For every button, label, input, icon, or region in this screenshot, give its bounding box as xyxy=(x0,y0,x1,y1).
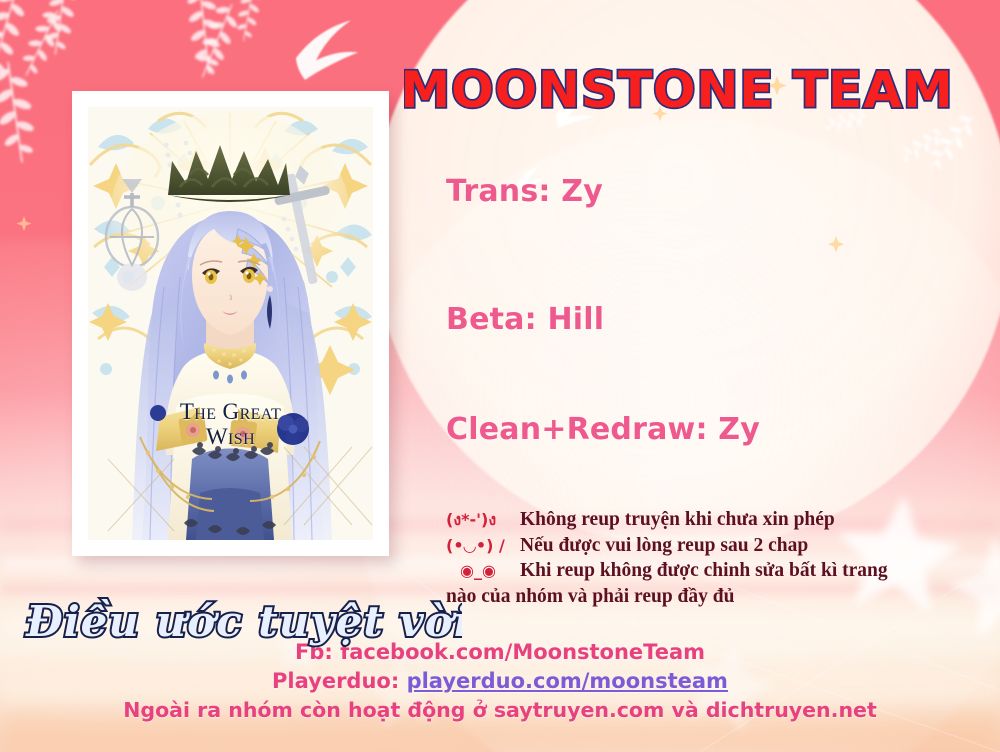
footer-playerduo-line: Playerduo: playerduo.com/moonsteam xyxy=(0,667,1000,696)
book-cover-frame: The Great Wish xyxy=(72,91,389,556)
rule-text-2: Nếu được vui lòng reup sau 2 chap xyxy=(520,533,808,559)
rules-block: (ง*-')งKhông reup truyện khi chưa xin ph… xyxy=(446,507,966,609)
credit-trans: Trans: Zy xyxy=(446,174,603,209)
rule-text-3: Khi reup không được chinh sửa bất kì tra… xyxy=(520,558,888,584)
cover-title-line1: The Great xyxy=(180,399,281,424)
footer-extra-line: Ngoài ra nhóm còn hoạt động ở saytruyen.… xyxy=(0,696,1000,725)
banner-stage: The Great Wish MOONSTONE TEAM Trans: Zy … xyxy=(0,0,1000,752)
svg-text:Điều ước tuyệt vời: Điều ước tuyệt vời xyxy=(25,597,462,646)
credit-clean-redraw: Clean+Redraw: Zy xyxy=(446,412,760,447)
rule-item: (ง*-')งKhông reup truyện khi chưa xin ph… xyxy=(446,507,966,533)
footer-playerduo-link[interactable]: playerduo.com/moonsteam xyxy=(407,669,728,693)
footer-extra-conj: và xyxy=(672,698,699,722)
footer-site-dichtruyen[interactable]: dichtruyen.net xyxy=(706,698,877,722)
vietnamese-title: Điều ước tuyệt vời xyxy=(22,588,462,654)
emoticon-2: (•◡•) / xyxy=(446,533,520,559)
rule-continuation: nào của nhóm và phải reup đầy đủ xyxy=(446,584,966,610)
credit-beta: Beta: Hill xyxy=(446,302,604,337)
emoticon-3: ◉_◉ xyxy=(446,558,520,584)
emoticon-1: (ง*-')ง xyxy=(446,507,520,533)
footer-site-saytruyen[interactable]: saytruyen.com xyxy=(494,698,665,722)
cover-title: The Great Wish xyxy=(88,399,373,449)
svg-text:MOONSTONE TEAM: MOONSTONE TEAM xyxy=(404,61,950,119)
cover-title-line2: Wish xyxy=(88,424,373,449)
cover-illustration xyxy=(88,107,373,540)
rule-text-1: Không reup truyện khi chưa xin phép xyxy=(520,507,835,533)
book-cover-artwork: The Great Wish xyxy=(88,107,373,540)
footer-extra-prefix: Ngoài ra nhóm còn hoạt động ở xyxy=(123,698,486,722)
footer-playerduo-label: Playerduo: xyxy=(272,669,399,693)
rule-item: ◉_◉Khi reup không được chinh sửa bất kì … xyxy=(446,558,966,584)
rule-item: (•◡•) /Nếu được vui lòng reup sau 2 chap xyxy=(446,533,966,559)
moonstone-team-wordmark: MOONSTONE TEAM xyxy=(404,58,950,120)
